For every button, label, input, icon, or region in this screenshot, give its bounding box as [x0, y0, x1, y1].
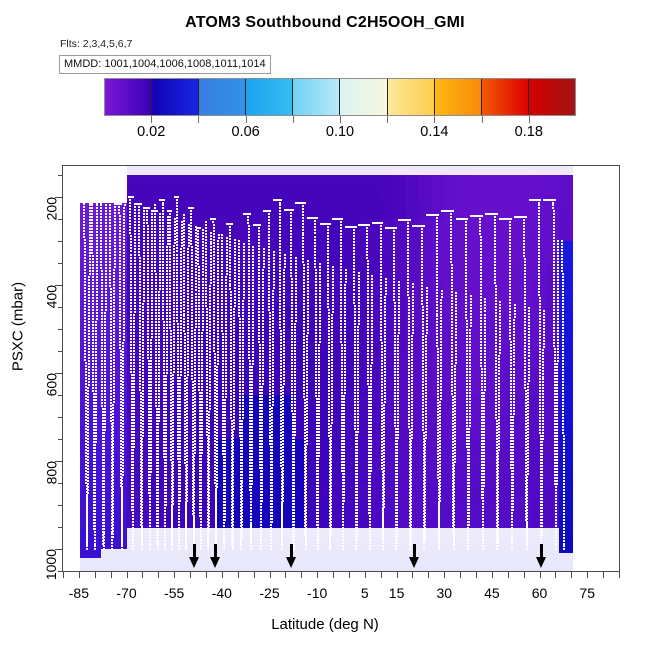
flight-track-point — [113, 368, 115, 370]
flight-track-point — [176, 254, 178, 256]
flight-track-point — [222, 348, 224, 350]
flight-track-point — [209, 366, 211, 368]
flight-track-point — [173, 320, 175, 322]
flight-track-point — [209, 396, 211, 398]
flight-track-point — [234, 257, 236, 259]
flight-track-point — [95, 387, 97, 389]
flight-track-point — [186, 416, 188, 418]
flight-track-point — [217, 267, 219, 269]
flight-track-point — [214, 371, 216, 373]
flight-track-point — [112, 506, 114, 508]
flight-track-point — [91, 240, 93, 242]
flight-track-point — [147, 312, 149, 314]
flight-track-point — [224, 435, 226, 437]
flight-track-point — [233, 416, 235, 418]
flight-track-point — [86, 525, 88, 527]
flight-track-point — [158, 390, 160, 392]
flight-track-point — [150, 447, 152, 449]
flight-track-point — [205, 296, 207, 298]
flight-track-point — [162, 207, 164, 209]
flight-track-point — [176, 211, 178, 213]
flight-track-point — [159, 264, 161, 266]
flight-track-point — [216, 402, 218, 404]
flight-track-point — [122, 360, 124, 362]
flight-track-point — [213, 323, 215, 325]
flight-track-point — [132, 497, 134, 499]
flight-track-point — [123, 261, 125, 263]
flight-track-point — [224, 450, 226, 452]
flight-track-point — [104, 360, 106, 362]
flight-track-point — [239, 324, 241, 326]
flight-track-point — [186, 428, 188, 430]
flight-track-point — [201, 389, 203, 391]
flight-track-point — [159, 276, 161, 278]
flight-track-point — [86, 501, 88, 503]
flight-track-point — [155, 333, 157, 335]
flight-track-point — [139, 329, 141, 331]
flight-track-point — [129, 217, 131, 219]
flight-track-point — [165, 399, 167, 401]
flight-track-point — [83, 227, 85, 229]
flight-track-point — [238, 276, 240, 278]
flight-track-point — [172, 380, 174, 382]
flight-track-point — [88, 345, 90, 347]
flight-track-point — [104, 354, 106, 356]
flight-track-point — [242, 303, 244, 305]
flight-track-point — [223, 539, 225, 541]
flight-track-point — [149, 540, 151, 542]
flight-track-point — [95, 405, 97, 407]
flight-track-point — [157, 456, 159, 458]
flight-track-point — [104, 333, 106, 335]
flight-track-point — [114, 233, 116, 235]
flight-track-point — [109, 267, 111, 269]
flight-track-point — [158, 402, 160, 404]
flight-track-point — [162, 309, 164, 311]
flight-track-point — [171, 536, 173, 538]
flight-track-point — [225, 330, 227, 332]
flight-track-point — [133, 320, 135, 322]
flight-track-point — [134, 260, 136, 262]
flight-track-point — [205, 242, 207, 244]
flight-track-point — [89, 258, 91, 260]
flight-track-point — [221, 270, 223, 272]
flight-track-point — [164, 516, 166, 518]
flight-track-point — [122, 453, 124, 455]
flight-track-point — [132, 458, 134, 460]
flight-track-point — [88, 285, 90, 287]
flight-track-point — [183, 253, 185, 255]
flight-track-point — [180, 284, 182, 286]
flight-track-point — [123, 255, 125, 257]
flight-track-point — [194, 347, 196, 349]
flight-track-point — [186, 479, 188, 481]
flight-track-point — [213, 266, 215, 268]
flight-track-point — [176, 269, 178, 271]
flight-track-point — [103, 504, 105, 506]
flight-track-point — [110, 327, 112, 329]
flight-track-point — [232, 449, 234, 451]
flight-track-point — [103, 456, 105, 458]
flight-track-point — [105, 243, 107, 245]
flight-track-point — [229, 247, 231, 249]
flight-track-point — [119, 227, 121, 229]
flight-track-point — [114, 218, 116, 220]
flight-track-point — [230, 309, 232, 311]
flight-track-point — [148, 363, 150, 365]
flight-track-point — [150, 471, 152, 473]
flight-track-point — [247, 216, 249, 218]
flight-track-point — [170, 360, 172, 362]
flight-track-point — [159, 231, 161, 233]
flight-track-point — [200, 488, 202, 490]
flight-track-point — [92, 294, 94, 296]
flight-track-point — [183, 268, 185, 270]
flight-track-point — [119, 302, 121, 304]
flight-track-point — [132, 515, 134, 517]
flight-track-point — [241, 438, 243, 440]
flight-track-point — [186, 488, 188, 490]
flight-track-point — [112, 440, 114, 442]
flight-track-point — [85, 374, 87, 376]
flight-track-point — [164, 537, 166, 539]
flight-track-point — [213, 344, 215, 346]
flight-track-point — [165, 432, 167, 434]
flight-track-point — [103, 516, 105, 518]
flight-track-point — [85, 386, 87, 388]
flight-track-point — [210, 258, 212, 260]
flight-track-point — [206, 332, 208, 334]
flight-track-point — [151, 306, 153, 308]
flight-track-point — [139, 353, 141, 355]
flight-track-point — [122, 420, 124, 422]
flight-track-point — [172, 452, 174, 454]
flight-track-point — [183, 280, 185, 282]
flight-track-point — [215, 528, 217, 530]
flight-track-point — [225, 339, 227, 341]
flight-track-point — [233, 419, 235, 421]
flight-track-point — [155, 348, 157, 350]
flight-track-point — [201, 395, 203, 397]
flight-track-point — [215, 498, 217, 500]
flight-track-point — [109, 234, 111, 236]
flight-track-point — [200, 533, 202, 535]
flight-track-point — [188, 245, 190, 247]
flight-track-point — [179, 428, 181, 430]
flight-track-point — [158, 408, 160, 410]
flight-track-point — [183, 247, 185, 249]
flight-track-point — [84, 287, 86, 289]
flight-track-point — [232, 509, 234, 511]
flight-track-point — [191, 300, 193, 302]
flight-track-point — [193, 527, 195, 529]
flight-track-point — [187, 320, 189, 322]
flight-track-point — [217, 279, 219, 281]
flight-track-point — [130, 250, 132, 252]
flight-track-point — [155, 336, 157, 338]
flight-track-point — [122, 444, 124, 446]
flight-track-point — [234, 242, 236, 244]
flight-track-point — [155, 291, 157, 293]
flight-track-point — [198, 269, 200, 271]
flight-track-point — [216, 450, 218, 452]
flight-track-point — [187, 260, 189, 262]
flight-track-point — [114, 260, 116, 262]
flight-track-point — [193, 479, 195, 481]
flight-track-point — [209, 402, 211, 404]
flight-track-point — [143, 297, 145, 299]
flight-track-point — [86, 498, 88, 500]
flight-track-point — [248, 276, 250, 278]
flight-track-point — [224, 459, 226, 461]
flight-track-point — [130, 302, 132, 304]
flight-track-point — [233, 428, 235, 430]
flight-track-point — [96, 231, 98, 233]
flight-track-point — [225, 390, 227, 392]
flight-track-point — [96, 234, 98, 236]
flight-track-point — [154, 246, 156, 248]
flight-track-point — [113, 284, 115, 286]
flight-track-point — [158, 309, 160, 311]
flight-track-point — [242, 417, 244, 419]
flight-track-point — [133, 425, 135, 427]
flight-track-point — [147, 243, 149, 245]
flight-track-point — [159, 261, 161, 263]
flight-track-point — [121, 495, 123, 497]
flight-track-point — [133, 353, 135, 355]
flight-track-point — [151, 300, 153, 302]
flight-track-point — [162, 276, 164, 278]
flight-track-point — [248, 309, 250, 311]
flight-track-point — [121, 489, 123, 491]
flight-track-point — [242, 321, 244, 323]
flight-track-point — [155, 363, 157, 365]
flight-track-point — [240, 539, 242, 541]
flight-track-point — [92, 288, 94, 290]
flight-track-point — [111, 539, 113, 541]
flight-track-point — [155, 324, 157, 326]
flight-track-point — [162, 231, 164, 233]
flight-track-point — [92, 333, 94, 335]
flight-track-point — [94, 489, 96, 491]
flight-track-point — [165, 417, 167, 419]
flight-track-point — [242, 327, 244, 329]
flight-track-point — [217, 360, 219, 362]
flight-track-point — [172, 443, 174, 445]
flight-track-point — [92, 300, 94, 302]
flight-track-point — [143, 273, 145, 275]
flight-track-point — [179, 401, 181, 403]
flight-track-point — [193, 473, 195, 475]
flight-track-point — [119, 293, 121, 295]
flight-track-point — [151, 255, 153, 257]
flight-track-point — [179, 413, 181, 415]
flight-track-point — [89, 273, 91, 275]
flight-track-point — [162, 222, 164, 224]
flight-track-point — [113, 332, 115, 334]
flight-track-point — [155, 297, 157, 299]
flight-track-point — [134, 212, 136, 214]
flight-track-point — [86, 531, 88, 533]
page-title: ATOM3 Southbound C2H5OOH_GMI — [0, 14, 650, 32]
flight-track-point — [176, 293, 178, 295]
flight-track-point — [178, 527, 180, 529]
flight-track-point — [133, 446, 135, 448]
flight-track-point — [91, 222, 93, 224]
flight-track-point — [100, 225, 102, 227]
flight-track-point — [221, 306, 223, 308]
flight-track-point — [230, 378, 232, 380]
flight-track-point — [94, 465, 96, 467]
flight-track-point — [103, 453, 105, 455]
flight-track-point — [88, 330, 90, 332]
flight-track-point — [159, 258, 161, 260]
flight-track-point — [173, 302, 175, 304]
flight-track-point — [225, 303, 227, 305]
flight-track-point — [134, 263, 136, 265]
flight-track-point — [198, 317, 200, 319]
flight-track-point — [112, 431, 114, 433]
flight-track-point — [162, 318, 164, 320]
flight-track-point — [217, 312, 219, 314]
flight-track-point — [184, 354, 186, 356]
flight-track-point — [165, 381, 167, 383]
flight-track-point — [101, 372, 103, 374]
flight-track-point — [205, 293, 207, 295]
flight-track-point — [133, 410, 135, 412]
flight-track-point — [234, 278, 236, 280]
flight-track-point — [84, 329, 86, 331]
flight-track-point — [91, 219, 93, 221]
flight-track-point — [238, 261, 240, 263]
flight-track-point — [210, 246, 212, 248]
flight-track-point — [222, 339, 224, 341]
flight-track-point — [151, 324, 153, 326]
flight-track-point — [180, 344, 182, 346]
flight-track-point — [103, 444, 105, 446]
flight-track-point — [163, 330, 165, 332]
flight-track-point — [232, 434, 234, 436]
flight-track-point — [109, 249, 111, 251]
flight-track-point — [193, 536, 195, 538]
flight-track-point — [139, 290, 141, 292]
flight-track-point — [201, 452, 203, 454]
flight-track-point — [176, 238, 178, 240]
flight-track-point — [197, 263, 199, 265]
flight-track-point — [176, 202, 178, 204]
flight-track-point — [84, 263, 86, 265]
flight-track-point — [194, 329, 196, 331]
flight-track-point — [179, 410, 181, 412]
flight-track-point — [151, 273, 153, 275]
flight-track-point — [202, 311, 204, 313]
flight-track-point — [165, 474, 167, 476]
flight-track-point — [209, 390, 211, 392]
flight-track-point — [205, 221, 207, 223]
flight-track-point — [123, 336, 125, 338]
flight-track-point — [185, 524, 187, 526]
flight-track-point — [209, 357, 211, 359]
flight-track-point — [157, 453, 159, 455]
flight-track-point — [129, 223, 131, 225]
flight-track-point — [186, 404, 188, 406]
flight-track-point — [166, 270, 168, 272]
flight-track-point — [101, 309, 103, 311]
flight-track-point — [172, 407, 174, 409]
flight-track-point — [213, 230, 215, 232]
flight-track-point — [123, 264, 125, 266]
flight-track-point — [151, 222, 153, 224]
flight-track-point — [113, 356, 115, 358]
flight-track-point — [217, 291, 219, 293]
flight-track-point — [243, 273, 245, 275]
flight-track-point — [183, 286, 185, 288]
flight-track-point — [186, 461, 188, 463]
flight-track-point — [208, 525, 210, 527]
flight-track-point — [209, 363, 211, 365]
flight-track-point — [249, 378, 251, 380]
flight-track-point — [214, 365, 216, 367]
flight-track-point — [208, 474, 210, 476]
flight-track-point — [133, 401, 135, 403]
flight-track-point — [232, 473, 234, 475]
colorbar-gradient — [104, 78, 576, 116]
flight-track-point — [95, 372, 97, 374]
flight-track-point — [139, 275, 141, 277]
flight-track-point — [221, 264, 223, 266]
flight-track-point — [150, 360, 152, 362]
flight-track-point — [162, 300, 164, 302]
flight-track-point — [94, 543, 96, 545]
flight-track-point — [155, 327, 157, 329]
flight-track-point — [162, 202, 164, 204]
flight-track-point — [216, 426, 218, 428]
flight-track-point — [177, 353, 179, 355]
flight-track-point — [215, 504, 217, 506]
flight-track-point — [173, 281, 175, 283]
flight-track-point — [176, 272, 178, 274]
flight-track-point — [180, 353, 182, 355]
flight-track-point — [173, 317, 175, 319]
flight-track-point — [143, 234, 145, 236]
flight-track-point — [150, 435, 152, 437]
flight-track-point — [94, 513, 96, 515]
flight-track-point — [123, 246, 125, 248]
flight-track-point — [202, 250, 204, 252]
flight-track-point — [209, 318, 211, 320]
flight-track-point — [239, 321, 241, 323]
flight-track-point — [191, 276, 193, 278]
flight-track-point — [198, 302, 200, 304]
flight-track-point — [242, 372, 244, 374]
flight-track-point — [248, 231, 250, 233]
flight-track-point — [190, 210, 192, 212]
flight-track-point — [205, 287, 207, 289]
flight-track-point — [88, 348, 90, 350]
flight-track-point — [132, 539, 134, 541]
colorbar-tick-labels: 0.020.060.100.140.18 — [0, 124, 650, 144]
flight-track-point — [112, 503, 114, 505]
flight-track-point — [215, 489, 217, 491]
flight-track-point — [119, 299, 121, 301]
flight-track-point — [114, 245, 116, 247]
flight-track-point — [213, 317, 215, 319]
flight-track-point — [143, 231, 145, 233]
flight-track-point — [193, 488, 195, 490]
flight-track-point — [187, 275, 189, 277]
flight-track-point — [104, 336, 106, 338]
flight-track-point — [158, 393, 160, 395]
